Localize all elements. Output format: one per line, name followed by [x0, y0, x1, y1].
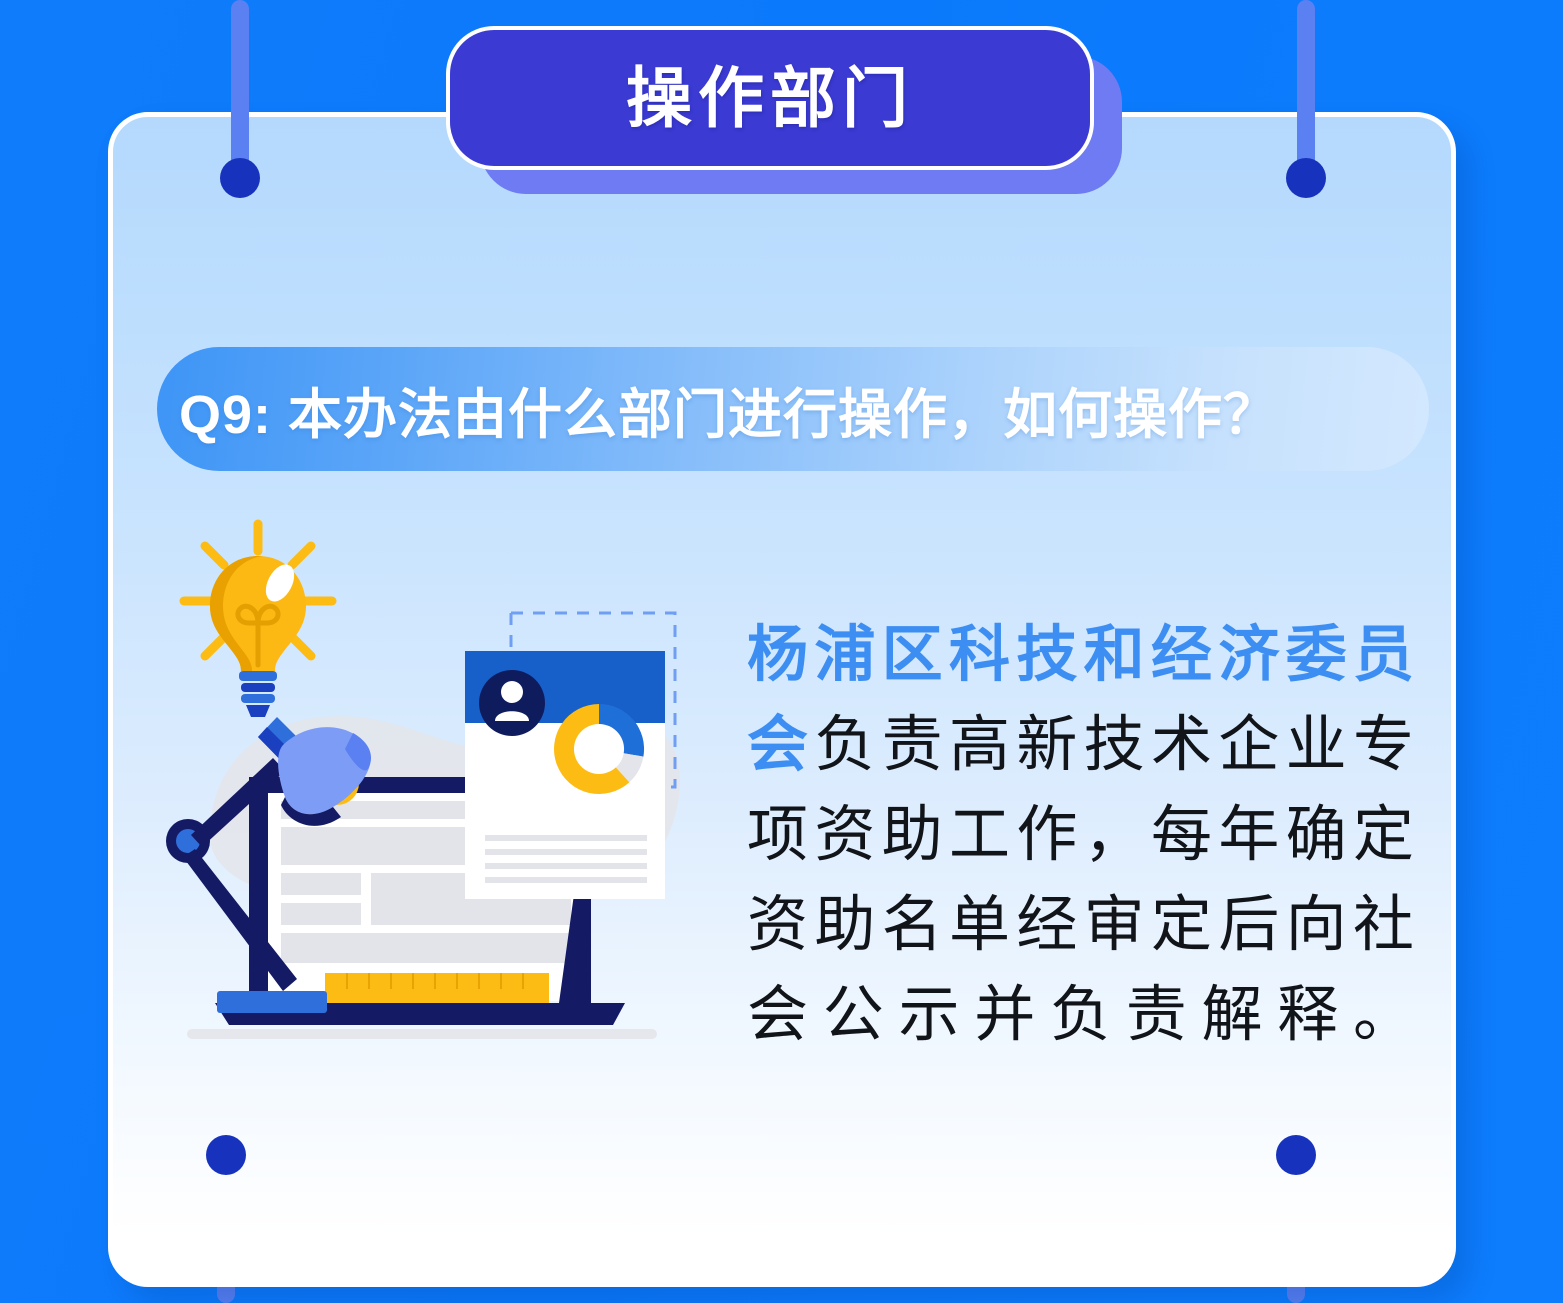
answer-paragraph: 杨浦区科技和经济委员会负责高新技术企业专项资助工作，每年确定资助名单经审定后向社…	[747, 609, 1415, 1059]
lamp-post	[252, 777, 268, 1003]
question-label: Q9: 本办法由什么部门进行操作，如何操作？	[179, 370, 1278, 449]
bulb-base	[239, 671, 277, 717]
floor-shadow	[187, 1029, 657, 1039]
avatar-icon	[479, 670, 545, 736]
title-banner-body: 操作部门	[446, 26, 1094, 170]
pin-dot-bottom-right	[1276, 1135, 1316, 1175]
report-card	[465, 651, 665, 899]
pin-dot-top-left	[220, 158, 260, 198]
content-card: Q9: 本办法由什么部门进行操作，如何操作？ 杨浦区科技和经济委员会负责高新技术…	[108, 112, 1456, 1287]
lamp-base	[217, 991, 327, 1013]
pin-dot-bottom-left	[206, 1135, 246, 1175]
pin-dot-top-right	[1286, 158, 1326, 198]
illustration	[155, 505, 715, 1050]
question-pill: Q9: 本办法由什么部门进行操作，如何操作？	[157, 347, 1429, 471]
lightbulb-icon	[184, 524, 332, 717]
title-banner: 操作部门	[446, 26, 1122, 194]
answer-rest: 负责高新技术企业专项资助工作，每年确定资助名单经审定后向社会公示并负责解释。	[747, 710, 1415, 1048]
laptop-keyboard	[325, 973, 549, 1003]
page-title: 操作部门	[626, 65, 914, 131]
